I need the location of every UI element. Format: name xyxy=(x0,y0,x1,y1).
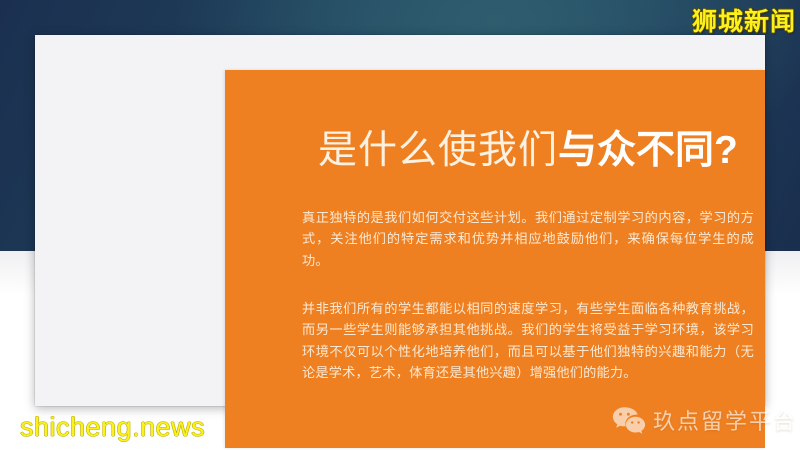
slide-paragraph-1: 真正独特的是我们如何交付这些计划。我们通过定制学习的内容，学习的方式，关注他们的… xyxy=(302,207,754,271)
screenshot-root: 是什么使我们与众不同? 真正独特的是我们如何交付这些计划。我们通过定制学习的内容… xyxy=(0,0,800,450)
wechat-icon xyxy=(612,406,646,435)
slide-title: 是什么使我们与众不同? xyxy=(318,128,738,174)
slide-title-bold: 与众不同? xyxy=(558,129,738,172)
slide-orange-panel: 是什么使我们与众不同? 真正独特的是我们如何交付这些计划。我们通过定制学习的内容… xyxy=(225,70,765,448)
watermark-bottom-left: shicheng.news xyxy=(20,412,205,443)
watermark-top-right: 狮城新闻 xyxy=(692,2,796,38)
watermark-bottom-right: 玖点留学平台 xyxy=(612,404,797,436)
slide-title-regular: 是什么使我们 xyxy=(318,129,558,172)
watermark-bottom-right-label: 玖点留学平台 xyxy=(653,404,797,436)
slide-paragraph-2: 并非我们所有的学生都能以相同的速度学习，有些学生面临各种教育挑战，而另一些学生则… xyxy=(302,298,754,383)
slide-card: 是什么使我们与众不同? 真正独特的是我们如何交付这些计划。我们通过定制学习的内容… xyxy=(35,35,765,406)
